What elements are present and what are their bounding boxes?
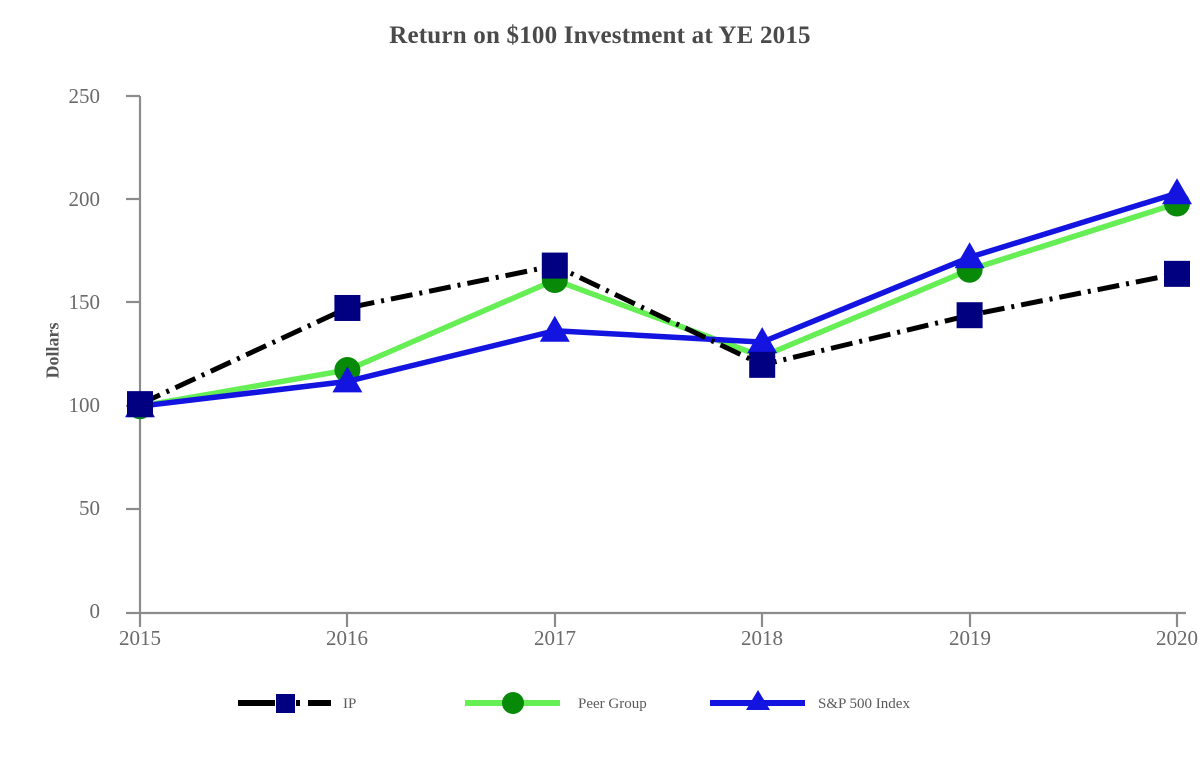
data-point-triangle-2020 [1162, 178, 1192, 204]
legend-key-sp500[interactable] [710, 690, 805, 710]
y-axis-ticks [126, 96, 140, 613]
data-point-square-2018 [749, 352, 775, 378]
legend-label-sp500[interactable]: S&P 500 Index [818, 696, 910, 713]
data-point-square-2019 [957, 302, 983, 328]
x-axis-ticks [140, 613, 1177, 627]
series-layer [125, 178, 1192, 419]
plot-area [0, 0, 1200, 680]
data-point-square-2016 [334, 295, 360, 321]
chart-page: Return on $100 Investment at YE 2015 Dol… [0, 0, 1200, 760]
data-point-square-2017 [542, 253, 568, 279]
legend-label-ip[interactable]: IP [343, 696, 356, 713]
legend-marker-circle-icon [502, 692, 524, 714]
legend-marker-square-icon [276, 694, 295, 713]
legend-label-peer-group[interactable]: Peer Group [578, 696, 647, 713]
data-point-square-2015 [127, 391, 153, 417]
legend-key-ip[interactable] [238, 694, 331, 713]
data-point-square-2020 [1164, 261, 1190, 287]
axis-lines [140, 96, 1186, 613]
legend-key-peer-group[interactable] [465, 692, 560, 714]
